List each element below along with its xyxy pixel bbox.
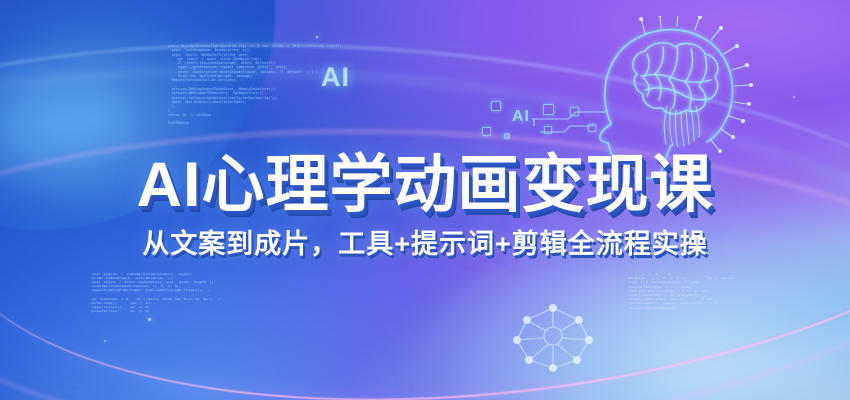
network-graph-icon <box>505 300 601 372</box>
course-promo-banner: public AsyncApiService(IConfiguration cf… <box>0 0 850 400</box>
ai-badge-primary: AI <box>321 62 350 93</box>
glow-dot <box>316 36 318 38</box>
glow-dot <box>793 96 795 98</box>
glow-dot <box>148 318 151 321</box>
page-subtitle: 从文案到成片，工具+提示词+剪辑全流程实操 <box>0 222 850 261</box>
ai-badge-secondary: AI <box>512 108 530 126</box>
circuit-square-icon <box>491 101 501 111</box>
page-title: AI心理学动画变现课 <box>0 134 850 225</box>
glow-dot <box>104 340 106 342</box>
